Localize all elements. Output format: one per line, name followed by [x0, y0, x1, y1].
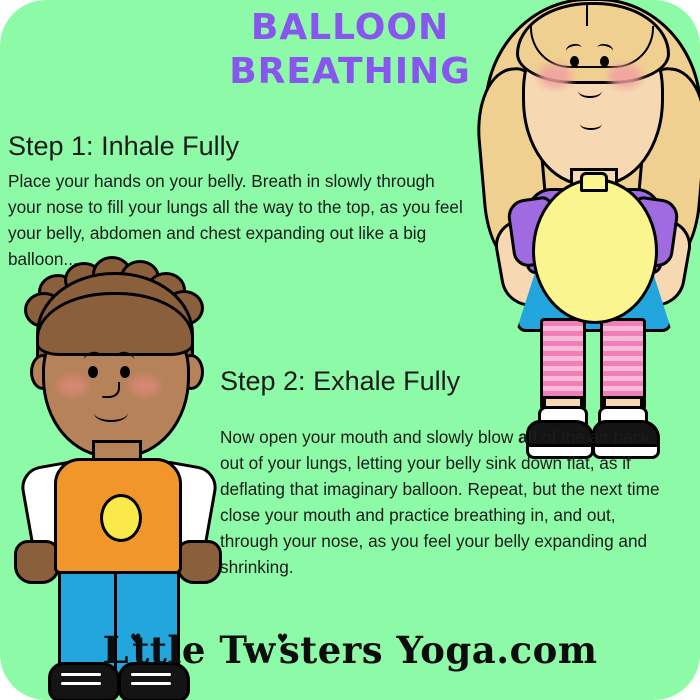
girl-cheek-right: [608, 64, 642, 88]
girl-illustration: [478, 0, 700, 392]
girl-hair-part: [586, 4, 588, 26]
step-2-body-part1: Now open your mouth and slowly blow: [220, 427, 518, 447]
step-2-body: Now open your mouth and slowly blow all …: [220, 424, 672, 580]
step-1-body: Place your hands on your belly. Breath i…: [8, 168, 468, 272]
step-2-heading: Step 2: Exhale Fully: [220, 366, 460, 397]
footer-text-part1: L: [103, 628, 130, 672]
heart-icon-1: ♥: [130, 632, 142, 647]
boy-eye-left: [88, 366, 98, 378]
girl-eye-right: [600, 56, 609, 67]
inflated-balloon-icon: [532, 178, 658, 324]
boy-illustration: [8, 272, 228, 672]
brand-footer[interactable]: L♥ttle Tw♥sters Yoga.com: [0, 628, 700, 672]
heart-icon-2: ♥: [277, 632, 289, 647]
girl-mouth: [578, 84, 602, 98]
boy-cheek-right: [130, 376, 160, 396]
balloon-breathing-poster: BALLOON BREATHING: [0, 0, 700, 700]
girl-eye-left: [570, 56, 579, 67]
girl-balloon-knot: [580, 172, 608, 192]
boy-shoe-lace-4: [131, 682, 171, 685]
boy-mouth: [94, 404, 128, 422]
boy-shoe-lace-2: [61, 682, 101, 685]
girl-cheek-left: [538, 64, 572, 88]
footer-text-part2: ttle: [132, 628, 219, 672]
boy-cheek-left: [58, 376, 88, 396]
footer-text-part4: sters Yoga.com: [279, 628, 598, 672]
boy-shoe-lace-1: [61, 673, 101, 676]
step-1-heading: Step 1: Inhale Fully: [8, 131, 239, 162]
boy-hand-right: [176, 540, 222, 584]
deflated-balloon-icon: [100, 494, 142, 542]
girl-chin: [580, 118, 602, 130]
step-2-body-emphasis: all: [518, 427, 537, 447]
step-2-body-part2: of the air back out of your lungs, letti…: [220, 427, 660, 577]
footer-text-part3: Tw: [219, 628, 275, 672]
boy-shoe-lace-3: [131, 673, 171, 676]
boy-eye-right: [120, 366, 130, 378]
